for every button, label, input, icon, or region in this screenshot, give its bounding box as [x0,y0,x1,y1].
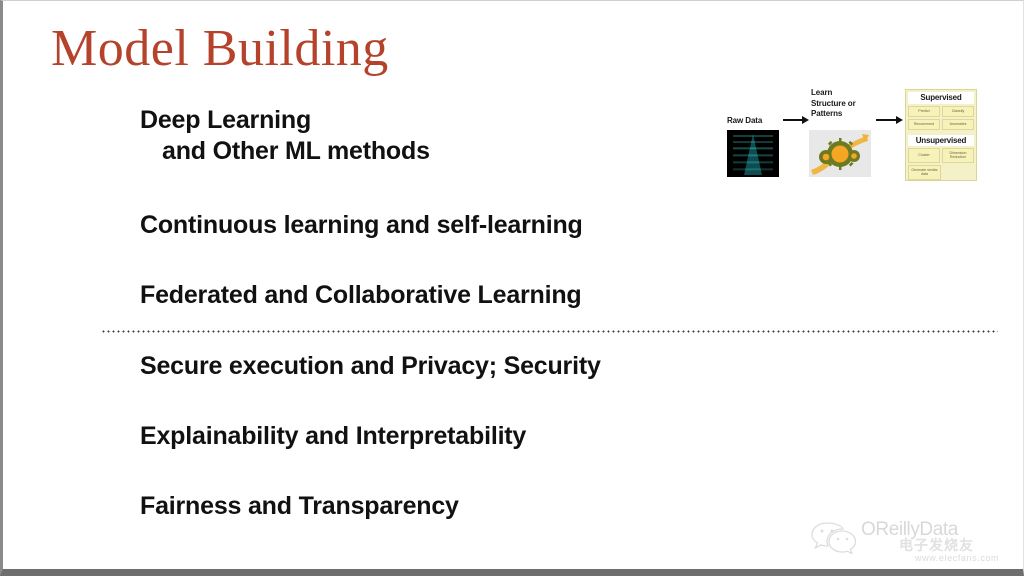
list-item-fairness: Fairness and Transparency [140,491,459,522]
section-divider [101,330,998,333]
diagram-label-raw-data: Raw Data [727,116,762,127]
bullet-text-line2: and Other ML methods [140,136,430,167]
task-chip: Generate similar data [908,165,941,180]
list-item-explainability: Explainability and Interpretability [140,421,526,452]
watermark-chinese-text: 电子发烧友 [899,535,974,555]
arrow-shaft [876,119,897,121]
supervised-header: Supervised [908,92,974,104]
task-chip: Predict [908,106,940,117]
task-chip-placeholder [943,165,974,180]
learn-label-line2: Structure or [811,99,856,110]
bullet-text-line1: Deep Learning [140,106,311,134]
task-chip: Recommend [908,119,940,130]
ml-pipeline-diagram: Raw Data Learn Structure or Patterns [721,87,983,187]
task-chip: Dimension Reduction [942,148,974,163]
diagram-label-learn-structure: Learn Structure or Patterns [811,88,856,120]
arrow-head [896,116,903,124]
watermark: OReillyData 电子发烧友 www.elecfans.com [809,510,1009,568]
watermark-url: www.elecfans.com [915,553,999,563]
list-item-secure-execution: Secure execution and Privacy; Security [140,351,601,382]
task-chip: Anomalies [942,119,974,130]
wechat-icon [811,520,859,554]
raw-data-thumbnail-image [727,130,779,177]
arrow-right-icon [783,115,809,125]
scanline-glow [733,132,773,176]
page-title: Model Building [51,22,389,77]
arrow-right-icon-2 [876,115,903,125]
task-chip: Cluster [908,148,940,163]
ml-task-panel: Supervised Predict Classify Recommend An… [905,89,977,181]
list-item-deep-learning: Deep Learning and Other ML methods [140,105,430,166]
list-item-federated-learning: Federated and Collaborative Learning [140,280,582,311]
unsupervised-row-2: Generate similar data [908,165,974,180]
gears-icon [809,130,871,177]
supervised-row-1: Predict Classify [908,106,974,117]
gears-thumbnail-image [809,130,871,177]
arrow-head [802,116,809,124]
unsupervised-header: Unsupervised [908,135,974,147]
learn-label-line3: Patterns [811,109,856,120]
supervised-row-2: Recommend Anomalies [908,119,974,130]
list-item-continuous-learning: Continuous learning and self-learning [140,210,583,241]
unsupervised-row-1: Cluster Dimension Reduction [908,148,974,163]
arrow-shaft [783,119,803,121]
slide-canvas: Model Building Deep Learning and Other M… [0,0,1024,576]
task-chip: Classify [942,106,974,117]
learn-label-line1: Learn [811,88,856,99]
